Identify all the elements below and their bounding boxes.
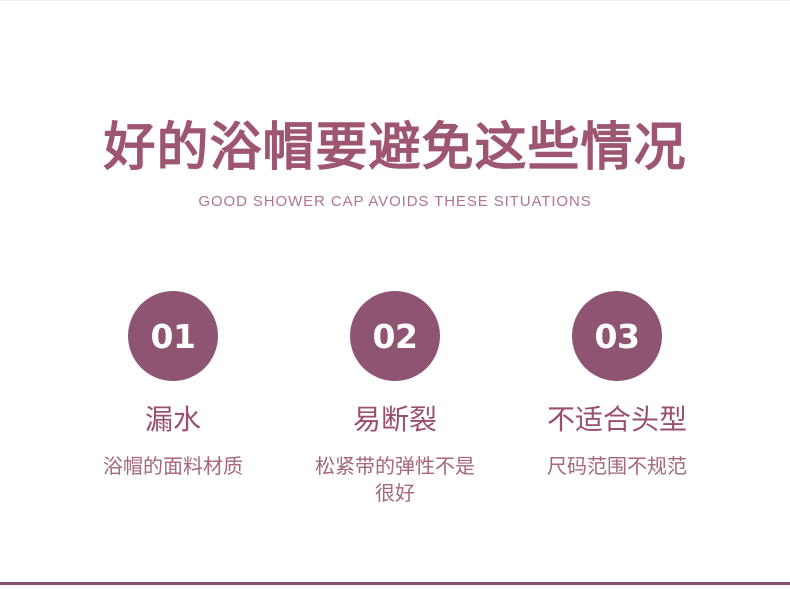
column-heading: 易断裂 [353,404,437,436]
column-description: 浴帽的面料材质 [103,453,243,480]
feature-column-3: 03 不适合头型 尺码范围不规范 [506,291,728,480]
feature-columns: 01 漏水 浴帽的面料材质 02 易断裂 松紧带的弹性不是很好 03 不适合头型… [0,291,790,507]
header-block: 好的浴帽要避免这些情况 GOOD SHOWER CAP AVOIDS THESE… [0,118,790,210]
column-description: 松紧带的弹性不是很好 [310,453,480,507]
promo-banner: 好的浴帽要避免这些情况 GOOD SHOWER CAP AVOIDS THESE… [0,0,790,589]
number-badge-01: 01 [128,291,218,381]
badge-number-label: 03 [595,320,640,353]
number-badge-03: 03 [572,291,662,381]
top-divider [0,0,790,1]
feature-column-1: 01 漏水 浴帽的面料材质 [62,291,284,480]
page-title: 好的浴帽要避免这些情况 [0,118,790,179]
badge-number-label: 02 [373,320,418,353]
number-badge-02: 02 [350,291,440,381]
column-description: 尺码范围不规范 [547,453,687,480]
column-heading: 漏水 [145,404,201,436]
badge-number-label: 01 [151,320,196,353]
footer-divider [0,582,790,585]
feature-column-2: 02 易断裂 松紧带的弹性不是很好 [284,291,506,507]
page-subtitle: GOOD SHOWER CAP AVOIDS THESE SITUATIONS [0,193,790,210]
column-heading: 不适合头型 [547,404,687,436]
